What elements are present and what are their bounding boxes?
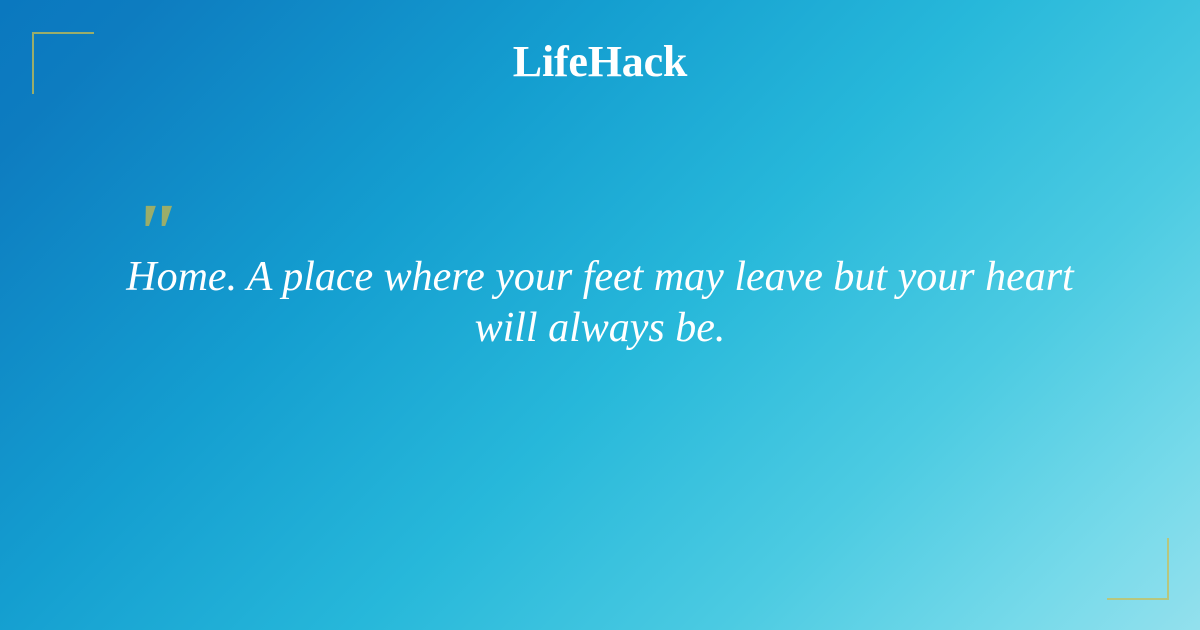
quote-card: LifeHack " Home. A place where your feet… bbox=[0, 0, 1200, 630]
quote-text: Home. A place where your feet may leave … bbox=[100, 252, 1100, 354]
brand-header: LifeHack bbox=[0, 40, 1200, 84]
corner-bracket-bottom-right-icon bbox=[1107, 538, 1169, 600]
brand-logo-text: LifeHack bbox=[513, 40, 687, 84]
